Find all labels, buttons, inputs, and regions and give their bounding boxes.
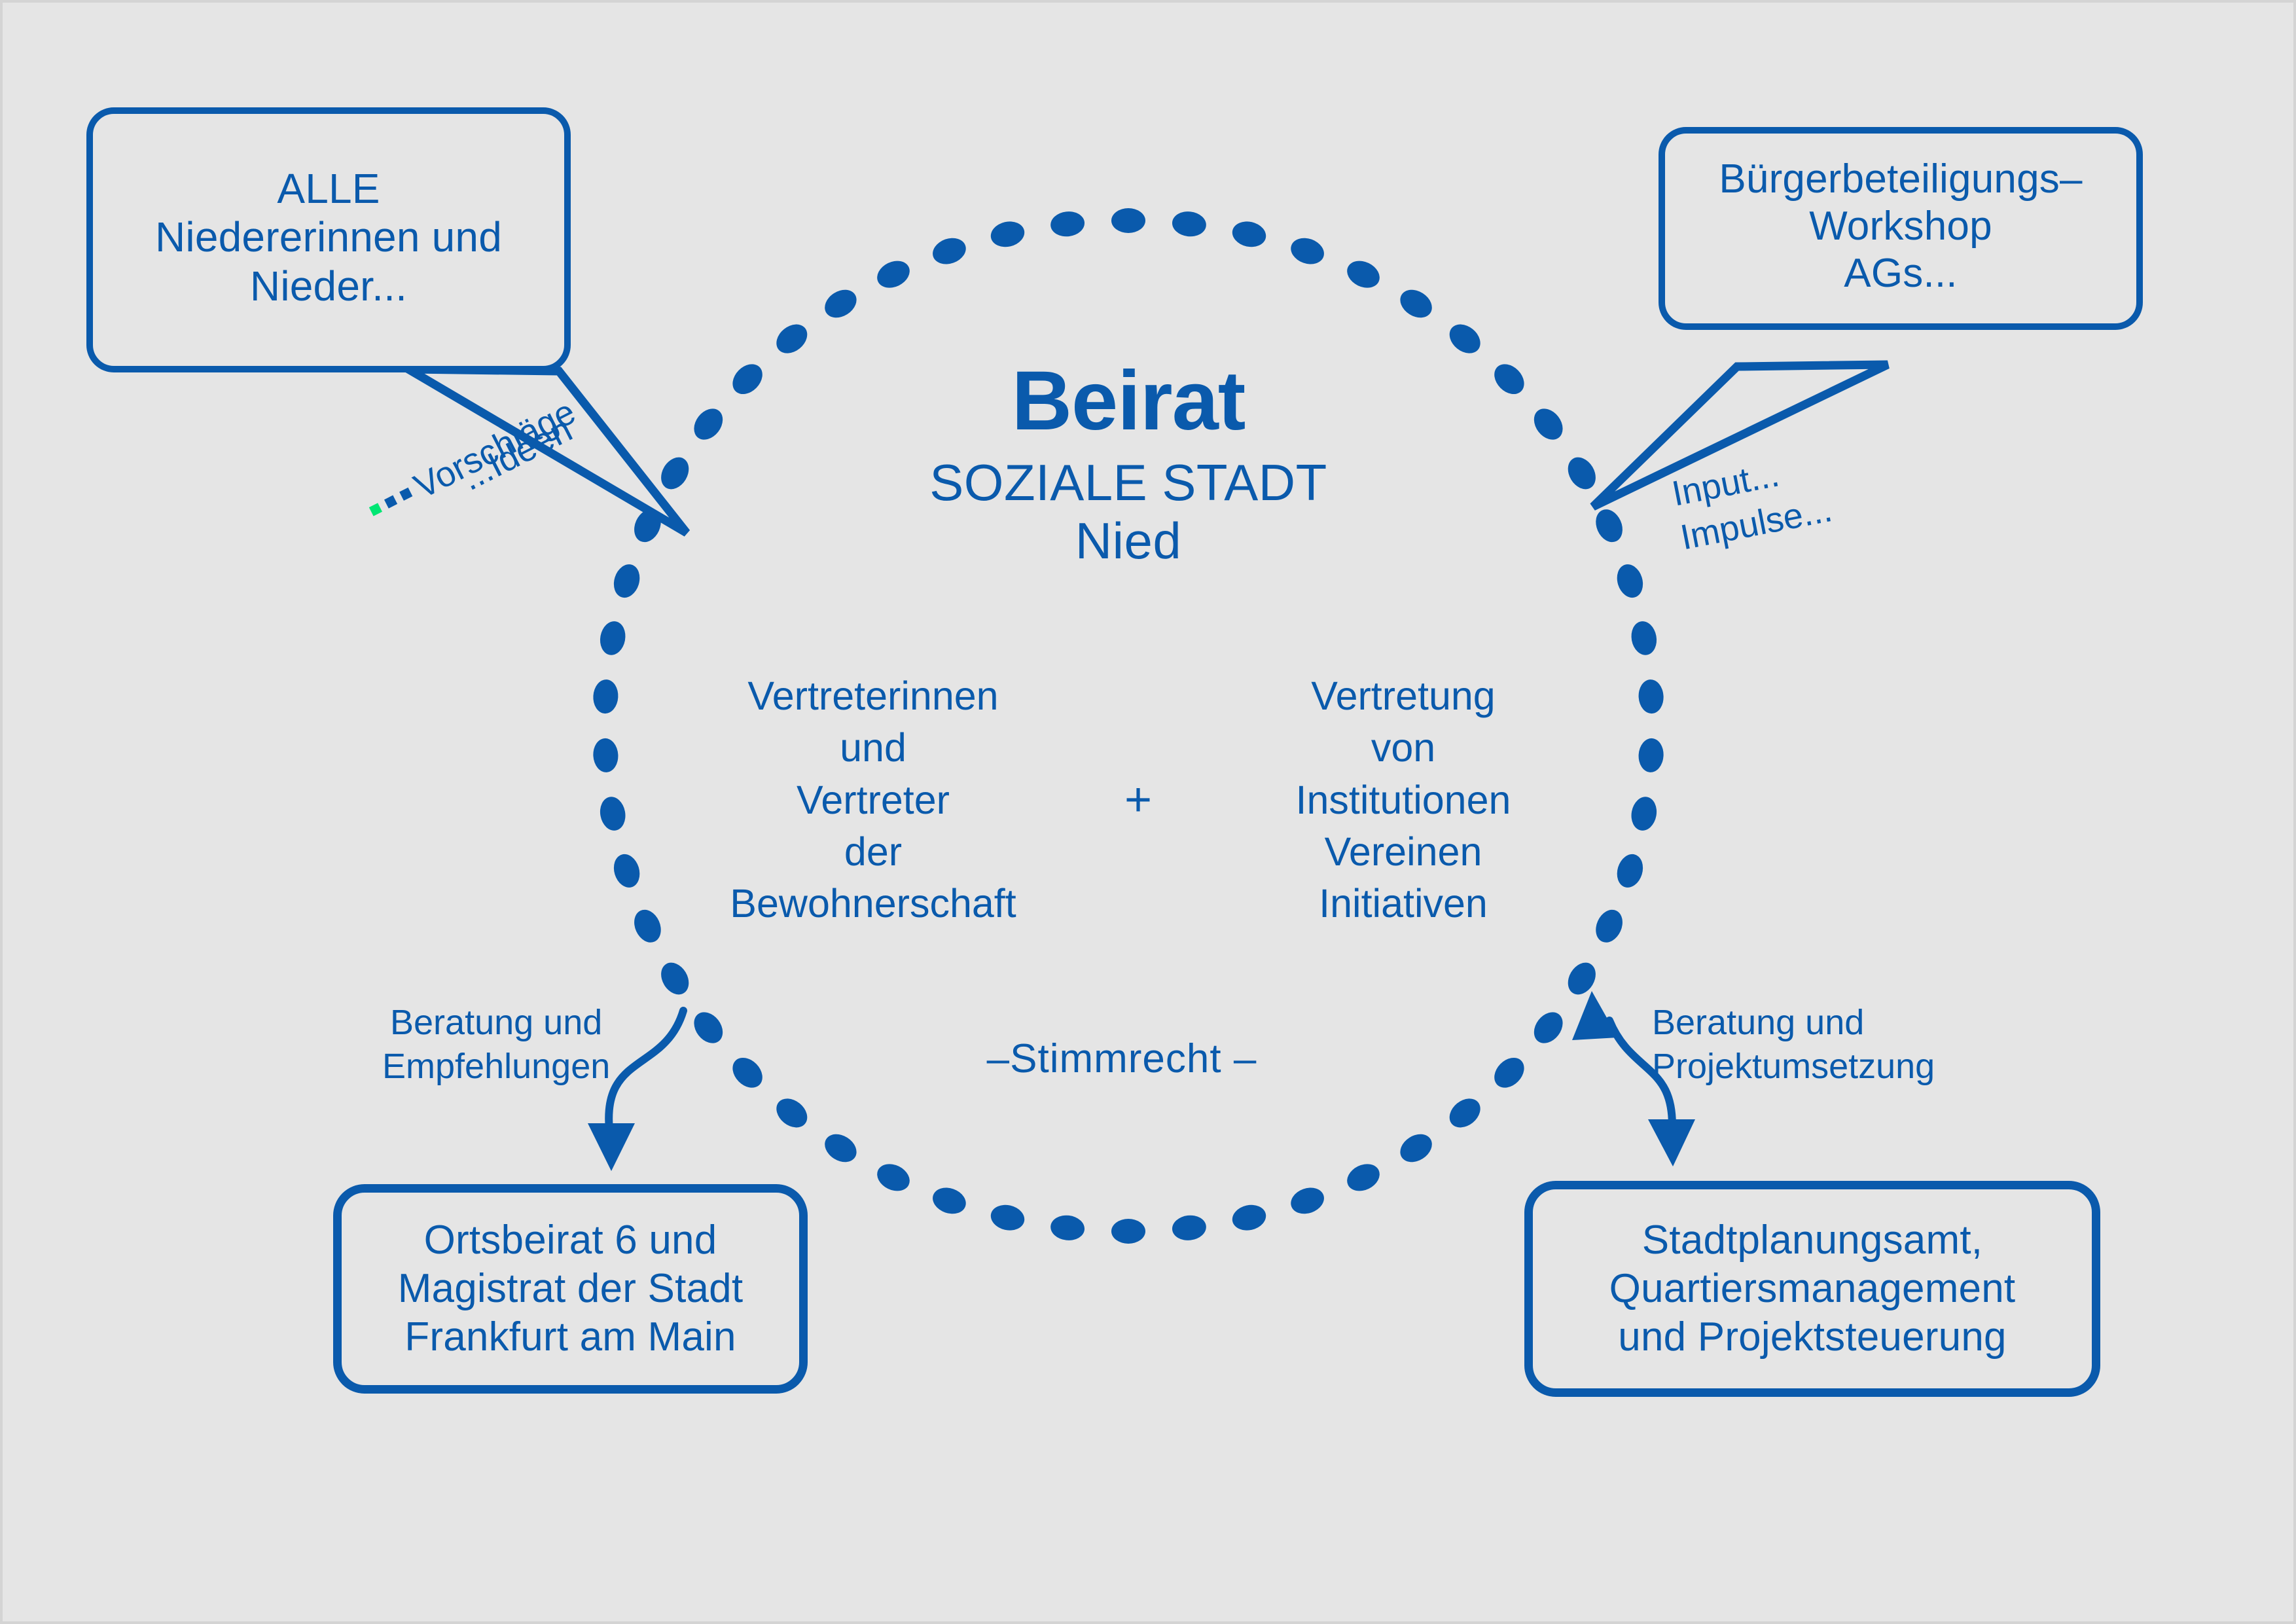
circle-bead (726, 358, 768, 400)
circle-bead (1638, 679, 1664, 714)
box-stadtplanungsamt[interactable]: Stadtplanungsamt, Quartiersmanagement un… (1524, 1181, 2100, 1397)
circle-bead (1342, 256, 1384, 293)
box-line: Stadtplanungsamt, (1642, 1216, 1982, 1265)
marker-dot-blue (399, 488, 412, 501)
marker-dot-green (369, 503, 382, 516)
voting-rights-label: –Stimmrecht – (919, 1036, 1325, 1082)
bubble-line: Niedererinnen und (155, 213, 502, 261)
circle-bead (610, 561, 644, 601)
circle-bead (1488, 358, 1530, 400)
circle-bead (1628, 619, 1659, 657)
bubble-line: ALLE (277, 164, 380, 213)
annotation-line: Beratung und (382, 1001, 610, 1045)
circle-bead (688, 403, 728, 445)
box-line: und Projektsteuerung (1618, 1313, 2006, 1362)
annotation-input-impulse: Input... Impulse... (1668, 443, 1836, 560)
circle-bead (988, 1202, 1027, 1234)
diagram-heading: Beirat (814, 359, 1443, 443)
annotation-beratung-projektumsetzung: Beratung und Projektumsetzung (1652, 1001, 1935, 1089)
circle-bead (1111, 208, 1145, 233)
annotation-line: Projektumsetzung (1652, 1045, 1935, 1089)
circle-bead (1230, 218, 1268, 250)
circle-bead (656, 958, 694, 1000)
circle-bead (1342, 1159, 1384, 1196)
speech-bubble-citizens[interactable]: ALLE Niedererinnen und Nieder... (86, 107, 571, 372)
bubble-line: Workshop (1809, 203, 1992, 250)
annotation-line: Empfehlungen (382, 1045, 610, 1089)
circle-bead (1488, 1052, 1530, 1094)
circle-bead (1528, 403, 1569, 445)
circle-bead (610, 851, 644, 891)
bubble-line: Bürgerbeteiligungs– (1719, 156, 2082, 203)
circle-bead (929, 234, 970, 268)
circle-bead (819, 284, 861, 323)
box-ortsbeirat-magistrat[interactable]: Ortsbeirat 6 und Magistrat der Stadt Fra… (333, 1184, 808, 1394)
circle-bead (1638, 738, 1664, 773)
bubble-line: AGs... (1844, 250, 1957, 297)
column-line: Vereinen (1227, 826, 1580, 878)
annotation-line: Beratung und (1652, 1001, 1935, 1045)
arrow-right-down-head (1648, 1119, 1695, 1166)
circle-bead (1591, 905, 1628, 947)
circle-bead (1049, 1214, 1086, 1242)
column-line: der (696, 826, 1050, 878)
circle-bead (771, 318, 813, 359)
circle-bead (1444, 1092, 1486, 1133)
circle-bead (819, 1128, 861, 1168)
circle-bead (1444, 318, 1486, 359)
circle-bead (1528, 1007, 1569, 1049)
circle-bead (656, 452, 694, 494)
circle-bead (988, 218, 1027, 250)
circle-bead (1591, 505, 1628, 547)
speech-bubble-participation[interactable]: Bürgerbeteiligungs– Workshop AGs... (1659, 127, 2143, 330)
circle-bead (1230, 1202, 1268, 1234)
arrow-right-up-head (1572, 991, 1618, 1040)
circle-bead (1562, 958, 1601, 1000)
column-institutions: Vertretung von Institutionen Vereinen In… (1227, 670, 1580, 929)
circle-bead (929, 1183, 970, 1218)
circle-bead (1613, 851, 1647, 891)
circle-bead (1395, 1128, 1437, 1168)
circle-bead (592, 679, 619, 714)
circle-bead (592, 738, 619, 773)
circle-bead (872, 256, 914, 293)
annotation-beratung-empfehlungen: Beratung und Empfehlungen (382, 1001, 610, 1089)
circle-bead (1395, 284, 1437, 323)
membership-columns: Vertreterinnen und Vertreter der Bewohne… (696, 670, 1580, 929)
circle-bead (629, 905, 666, 947)
column-line: Institutionen (1227, 774, 1580, 826)
column-residents: Vertreterinnen und Vertreter der Bewohne… (696, 670, 1050, 929)
column-line: und (696, 722, 1050, 774)
circle-bead (872, 1159, 914, 1196)
diagram-subtitle-line1: SOZIALE STADT (814, 452, 1443, 513)
box-line: Ortsbeirat 6 und (424, 1216, 717, 1265)
diagram-canvas: ALLE Niedererinnen und Nieder... Bürgerb… (0, 0, 2296, 1624)
circle-bead (1171, 1214, 1208, 1242)
circle-bead (598, 795, 628, 833)
arrow-left-down-head (588, 1123, 635, 1171)
column-line: Initiativen (1227, 878, 1580, 929)
circle-bead (1287, 234, 1328, 268)
circle-bead (1628, 795, 1659, 833)
column-line: Vertreterinnen (696, 670, 1050, 722)
column-line: Bewohnerschaft (696, 878, 1050, 929)
box-line: Frankfurt am Main (404, 1313, 736, 1362)
circle-bead (726, 1052, 768, 1094)
plus-operator: + (1112, 776, 1164, 823)
circle-bead (1613, 561, 1647, 601)
circle-bead (1287, 1183, 1328, 1218)
circle-bead (1111, 1219, 1145, 1244)
diagram-subtitle-line2: Nied (814, 513, 1443, 569)
circle-bead (629, 505, 666, 547)
bubble-line: Nieder... (250, 262, 407, 310)
circle-bead (598, 619, 628, 657)
marker-dot-blue (384, 496, 397, 509)
circle-bead (1049, 209, 1086, 238)
column-line: Vertreter (696, 774, 1050, 826)
circle-bead (771, 1092, 813, 1133)
box-line: Quartiersmanagement (1609, 1265, 2016, 1313)
column-line: Vertretung (1227, 670, 1580, 722)
circle-bead (1171, 209, 1208, 238)
column-line: von (1227, 722, 1580, 774)
box-line: Magistrat der Stadt (398, 1265, 744, 1313)
circle-bead (688, 1007, 728, 1049)
center-title-block: Beirat SOZIALE STADT Nied (814, 359, 1443, 569)
circle-bead (1562, 452, 1601, 494)
arrow-left-down (609, 1011, 683, 1145)
